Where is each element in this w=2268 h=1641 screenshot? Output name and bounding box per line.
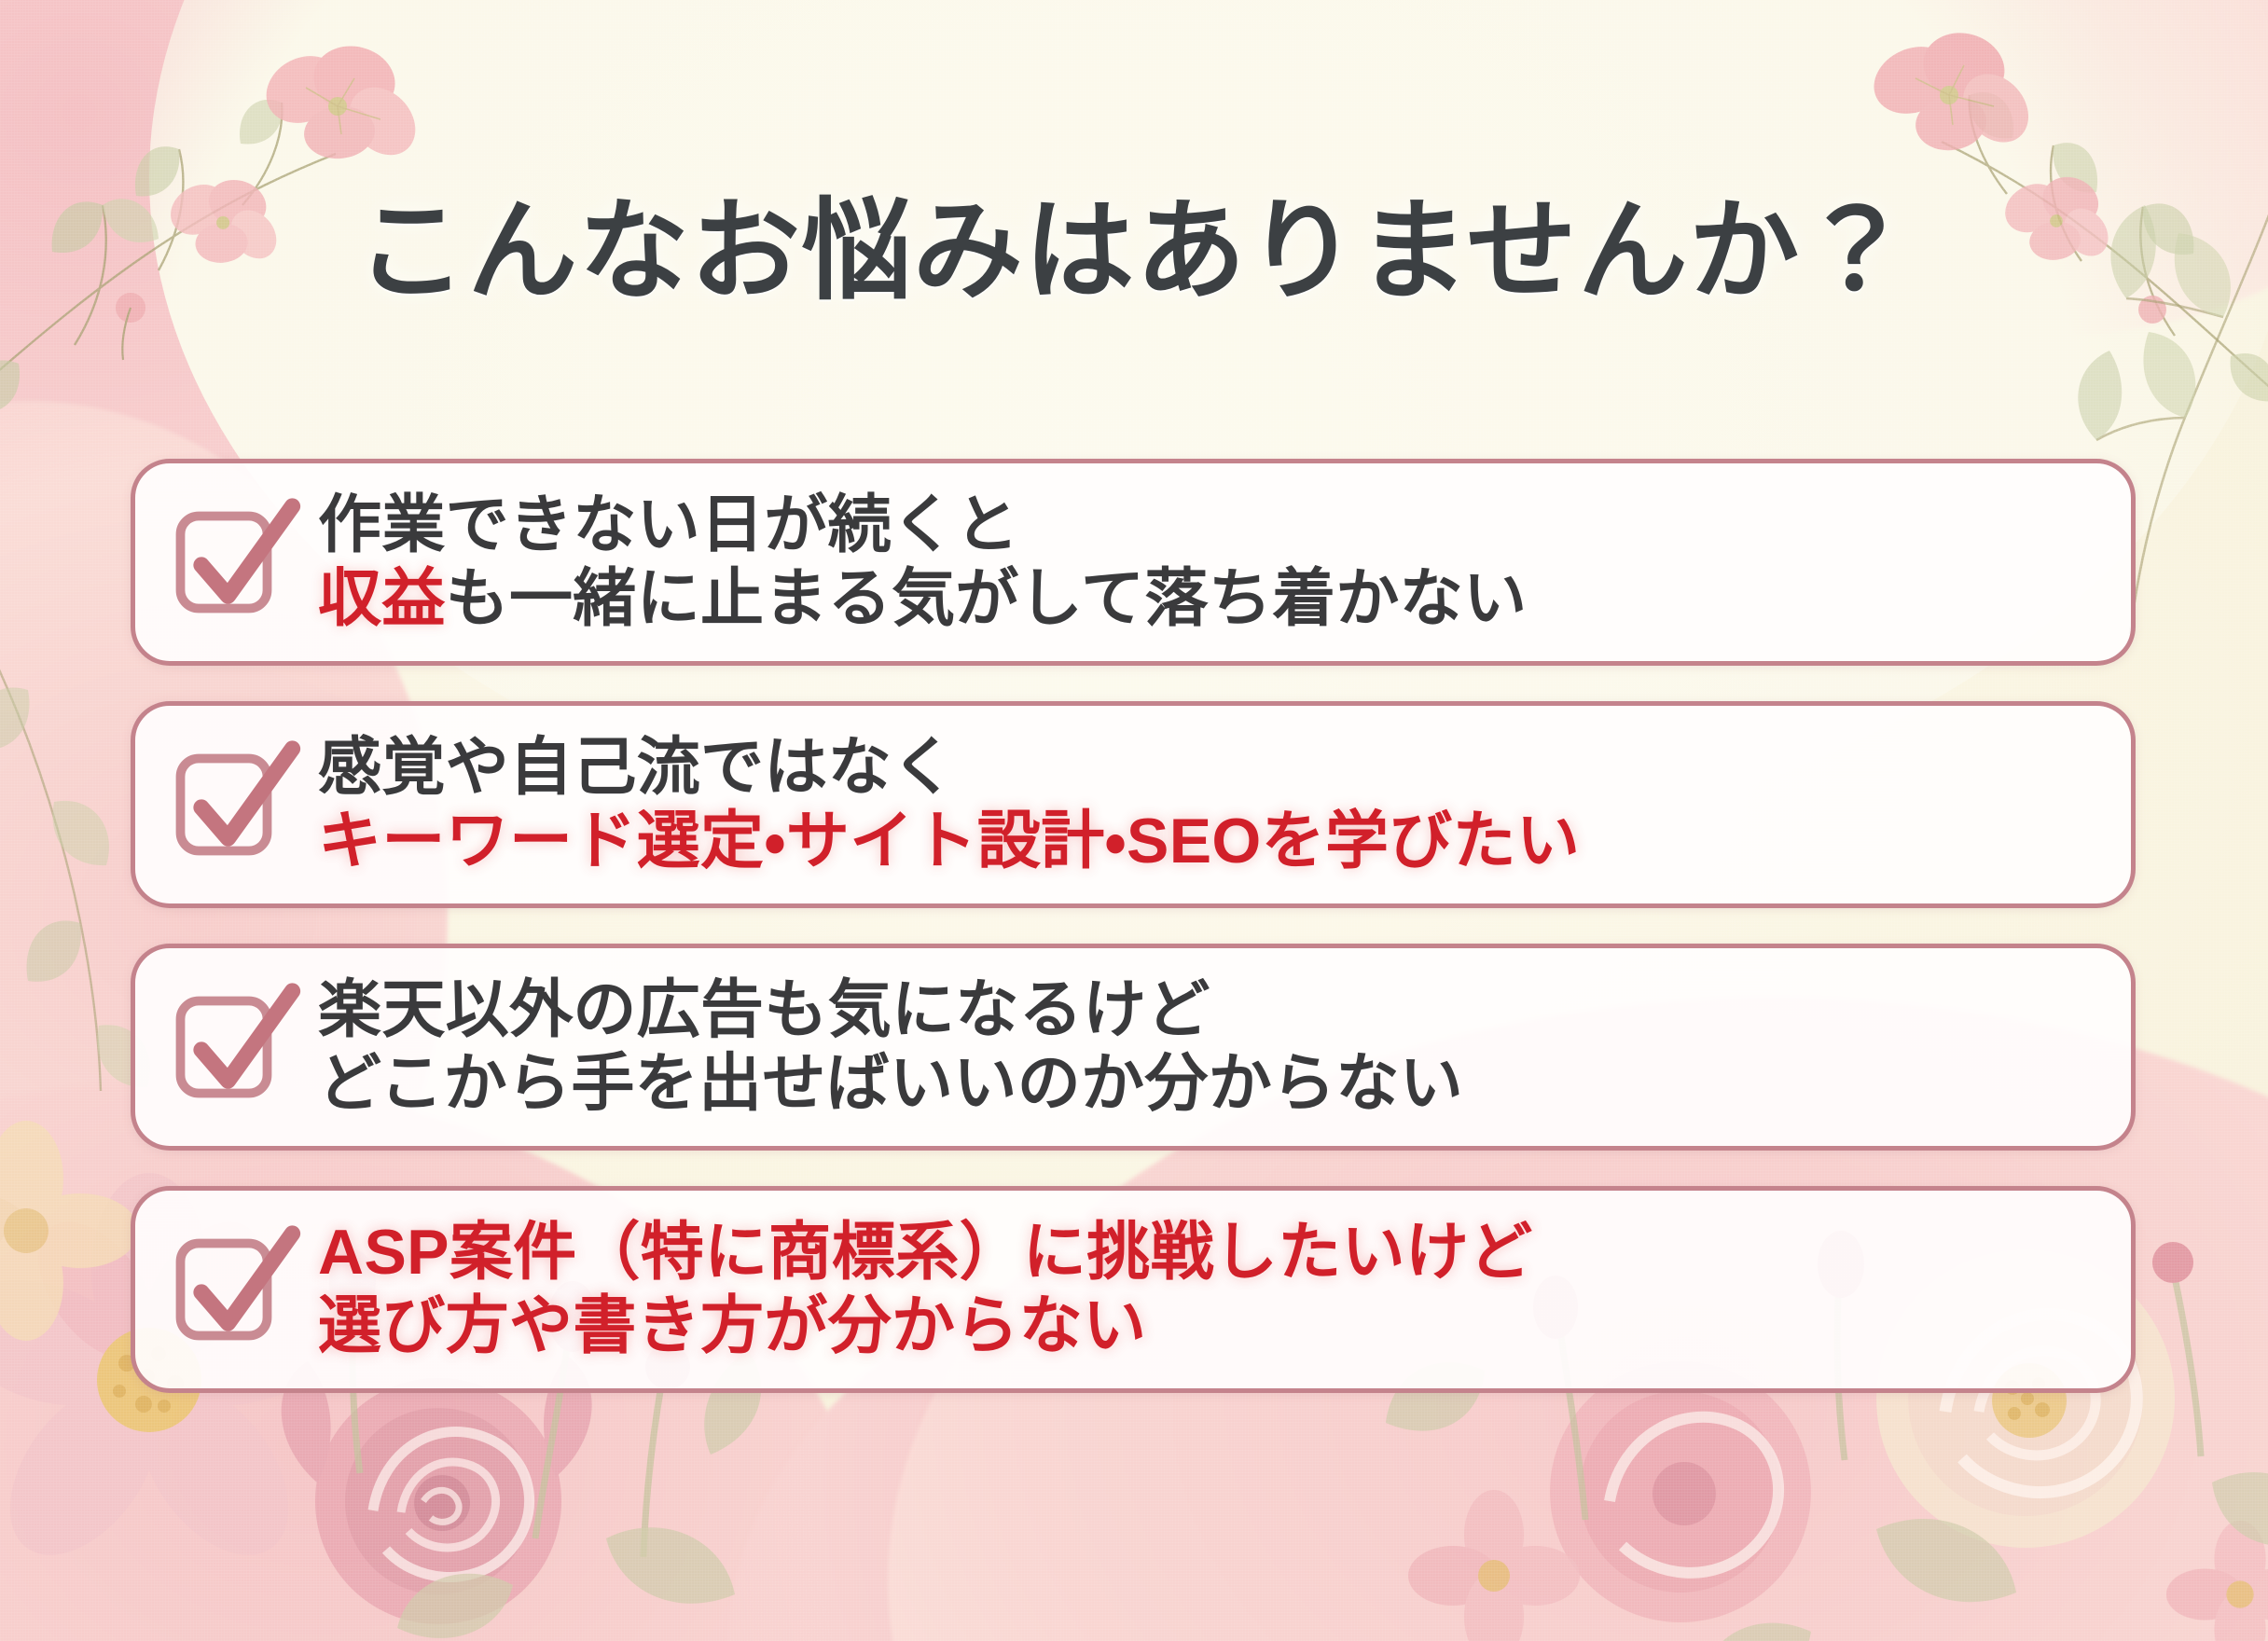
pain-point-card-4-text: ASP案件（特に商標系）に挑戦したいけど 選び方や書き方が分からない: [318, 1219, 2131, 1361]
card-1-line-1: 作業できない日が続くと: [318, 491, 2103, 559]
card-2-line-2: キーワード選定・サイト設計・SEOを学びたい: [318, 807, 2103, 876]
card-1-line-2: 収益も一緒に止まる気がして落ち着かない: [318, 565, 2103, 633]
checkbox-checked-icon-1[interactable]: [165, 492, 305, 632]
pain-point-card-2[interactable]: 感覚や自己流ではなく キーワード選定・サイト設計・SEOを学びたい: [131, 701, 2136, 908]
card-3-line-2: どこから手を出せばいいのか分からない: [318, 1050, 2103, 1118]
card-4-line-1: ASP案件（特に商標系）に挑戦したいけど: [318, 1219, 2103, 1287]
pain-point-card-list: 作業できない日が続くと 収益も一緒に止まる気がして落ち着かない 感覚や自己流では…: [131, 459, 2136, 1393]
card-2-line-1: 感覚や自己流ではなく: [318, 734, 2103, 802]
pain-point-card-3[interactable]: 楽天以外の広告も気になるけど どこから手を出せばいいのか分からない: [131, 944, 2136, 1151]
card-1-line-2-rest: も一緒に止まる気がして落ち着かない: [446, 563, 1528, 634]
page-title: こんなお悩みはありませんか？: [0, 193, 2268, 311]
checkbox-checked-icon-4[interactable]: [165, 1220, 305, 1359]
card-3-line-1: 楽天以外の広告も気になるけど: [318, 976, 2103, 1044]
checkbox-checked-icon-3[interactable]: [165, 977, 305, 1117]
pain-point-card-3-text: 楽天以外の広告も気になるけど どこから手を出せばいいのか分からない: [318, 976, 2131, 1119]
checkbox-checked-icon-2[interactable]: [165, 735, 305, 875]
card-4-line-2: 選び方や書き方が分からない: [318, 1292, 2103, 1360]
pain-point-card-1[interactable]: 作業できない日が続くと 収益も一緒に止まる気がして落ち着かない: [131, 459, 2136, 666]
pain-point-card-4[interactable]: ASP案件（特に商標系）に挑戦したいけど 選び方や書き方が分からない: [131, 1186, 2136, 1393]
slide-canvas: こんなお悩みはありませんか？ 作業できない日が続くと 収益も一緒に止まる気がして…: [0, 0, 2268, 1641]
card-1-highlight: 収益: [318, 563, 446, 634]
pain-point-card-2-text: 感覚や自己流ではなく キーワード選定・サイト設計・SEOを学びたい: [318, 734, 2131, 876]
pain-point-card-1-text: 作業できない日が続くと 収益も一緒に止まる気がして落ち着かない: [318, 491, 2131, 634]
